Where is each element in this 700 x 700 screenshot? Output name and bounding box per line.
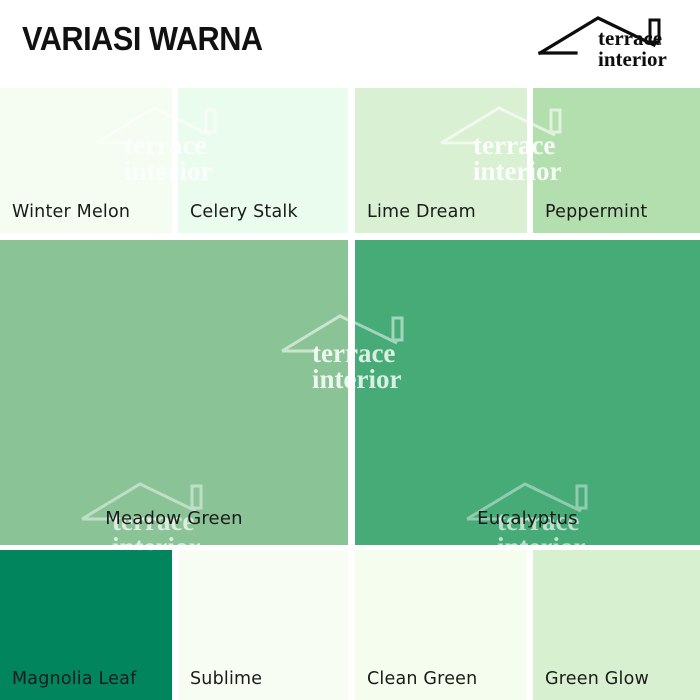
swatch-label: Meadow Green: [0, 508, 348, 529]
watermark-line-2: interior: [487, 550, 527, 552]
swatch-label: Clean Green: [367, 669, 477, 689]
watermark-roof-icon: [437, 102, 527, 166]
color-palette-page: VARIASI WARNA terrace interior: [0, 0, 700, 700]
swatch-label: Lime Dream: [367, 202, 476, 222]
swatch-green-glow[interactable]: interior Green Glow: [533, 550, 700, 700]
swatch-label: Winter Melon: [12, 202, 130, 222]
watermark-text: interior: [533, 550, 575, 552]
swatch-winter-melon[interactable]: terrace interior Winter Melon: [0, 88, 172, 233]
watermark-line-2: interior: [124, 158, 172, 184]
watermark-line-2: interior: [533, 550, 575, 552]
watermark-line-2: interior: [533, 158, 561, 184]
watermark-roof-icon: [92, 102, 172, 166]
watermark-line-1: terrace: [312, 340, 348, 366]
watermark-line-2: interior: [178, 550, 200, 554]
swatch-celery-stalk[interactable]: terrace interior Celery Stalk: [178, 88, 348, 233]
swatch-label: Magnolia Leaf: [12, 669, 136, 689]
watermark-roof-icon: [355, 310, 429, 374]
watermark-line-1: terrace: [355, 340, 401, 366]
swatch-peppermint[interactable]: terrace interior Peppermint: [533, 88, 700, 233]
watermark-text: terrace interior: [355, 340, 401, 393]
watermark-line-2: interior: [112, 534, 200, 545]
watermark-roof-icon: [533, 102, 587, 166]
watermark-line-1: terrace: [178, 132, 212, 158]
swatch-magnolia-leaf[interactable]: interior Magnolia Leaf: [0, 550, 172, 700]
swatch-label: Sublime: [190, 669, 262, 689]
swatch-label: Celery Stalk: [190, 202, 298, 222]
swatch-meadow-green[interactable]: terrace interior terrace interior Meadow…: [0, 240, 348, 545]
watermark-line-1: terrace: [473, 132, 527, 158]
watermark-roof-icon: [278, 310, 348, 374]
swatch-sublime[interactable]: interior Sublime: [178, 550, 348, 700]
swatch-label: Green Glow: [545, 669, 649, 689]
watermark-text: interior: [178, 550, 200, 554]
watermark-line-2: interior: [178, 158, 212, 184]
watermark-text: terrace interior: [178, 132, 212, 185]
swatch-eucalyptus[interactable]: terrace interior terrace interior Eucaly…: [355, 240, 700, 545]
swatch-grid: terrace interior Winter Melon terrace in…: [0, 0, 700, 700]
watermark-text: interior: [487, 550, 527, 552]
watermark-line-2: interior: [112, 550, 172, 554]
watermark-text: terrace interior: [533, 132, 561, 185]
watermark-line-2: interior: [312, 366, 348, 392]
swatch-lime-dream[interactable]: terrace interior Lime Dream: [355, 88, 527, 233]
watermark-line-2: interior: [497, 534, 585, 545]
swatch-label: Eucalyptus: [355, 508, 700, 529]
watermark-text: interior: [112, 550, 172, 554]
watermark-roof-icon: [178, 102, 242, 166]
watermark-text: terrace interior: [473, 132, 527, 185]
watermark-line-1: terrace: [124, 132, 172, 158]
watermark-line-1: terrace: [533, 132, 561, 158]
swatch-label: Peppermint: [545, 202, 647, 222]
swatch-clean-green[interactable]: interior Clean Green: [355, 550, 527, 700]
watermark-line-2: interior: [473, 158, 527, 184]
watermark-line-2: interior: [355, 366, 401, 392]
watermark-text: terrace interior: [312, 340, 348, 393]
watermark-text: terrace interior: [124, 132, 172, 185]
